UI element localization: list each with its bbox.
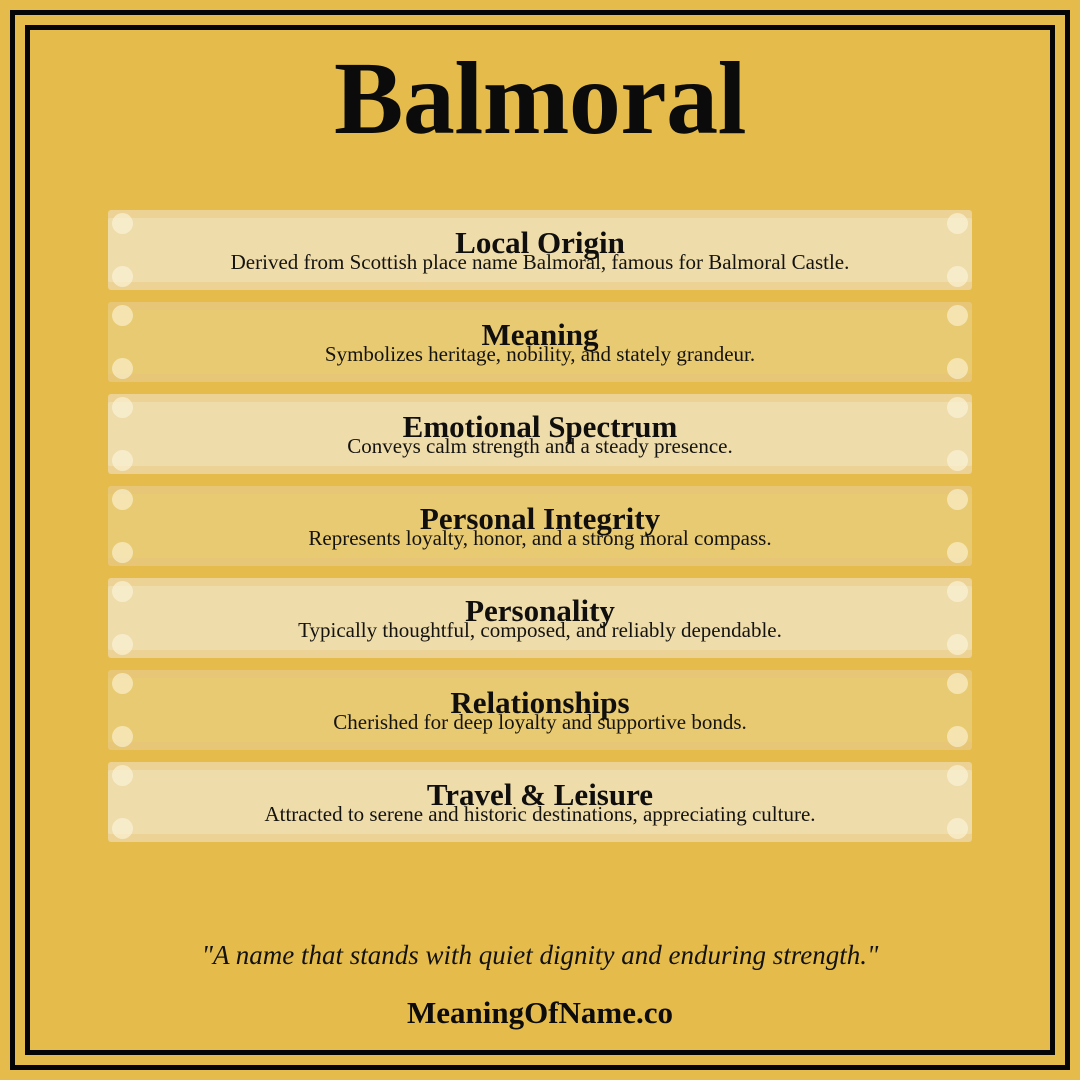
section-card: Local OriginDerived from Scottish place … [108,210,972,290]
rivet-dot-icon [947,489,968,510]
footer-quote: "A name that stands with quiet dignity a… [30,942,1050,969]
section-card: Emotional SpectrumConveys calm strength … [108,394,972,474]
section-card: Travel & LeisureAttracted to serene and … [108,762,972,842]
section-card-text: Personal IntegrityRepresents loyalty, ho… [130,486,950,566]
section-description: Represents loyalty, honor, and a strong … [308,528,771,549]
rivet-dot-icon [947,634,968,655]
section-description: Typically thoughtful, composed, and reli… [298,620,782,641]
rivet-dot-icon [947,213,968,234]
rivet-dot-icon [947,673,968,694]
section-card-list: Local OriginDerived from Scottish place … [108,210,972,854]
section-description: Symbolizes heritage, nobility, and state… [325,344,755,365]
section-card-text: Local OriginDerived from Scottish place … [130,210,950,290]
section-card-text: RelationshipsCherished for deep loyalty … [130,670,950,750]
section-card: MeaningSymbolizes heritage, nobility, an… [108,302,972,382]
rivet-dot-icon [947,266,968,287]
section-card-text: Emotional SpectrumConveys calm strength … [130,394,950,474]
poster-content: Balmoral Local OriginDerived from Scotti… [30,30,1050,1050]
rivet-dot-icon [947,305,968,326]
rivet-dot-icon [947,542,968,563]
poster: Balmoral Local OriginDerived from Scotti… [0,0,1080,1080]
rivet-dot-icon [947,358,968,379]
section-card: Personal IntegrityRepresents loyalty, ho… [108,486,972,566]
rivet-dot-icon [947,726,968,747]
section-description: Attracted to serene and historic destina… [264,804,815,825]
rivet-dot-icon [947,765,968,786]
section-description: Conveys calm strength and a steady prese… [347,436,732,457]
footer: "A name that stands with quiet dignity a… [30,942,1050,1028]
section-description: Derived from Scottish place name Balmora… [231,252,850,273]
rivet-dot-icon [947,818,968,839]
section-card-text: PersonalityTypically thoughtful, compose… [130,578,950,658]
section-description: Cherished for deep loyalty and supportiv… [333,712,747,733]
section-card-text: Travel & LeisureAttracted to serene and … [130,762,950,842]
rivet-dot-icon [947,581,968,602]
section-card: RelationshipsCherished for deep loyalty … [108,670,972,750]
brand-name: MeaningOfName.co [30,997,1050,1028]
section-card-text: MeaningSymbolizes heritage, nobility, an… [130,302,950,382]
rivet-dot-icon [947,450,968,471]
section-card: PersonalityTypically thoughtful, compose… [108,578,972,658]
rivet-dot-icon [947,397,968,418]
page-title: Balmoral [30,46,1050,152]
